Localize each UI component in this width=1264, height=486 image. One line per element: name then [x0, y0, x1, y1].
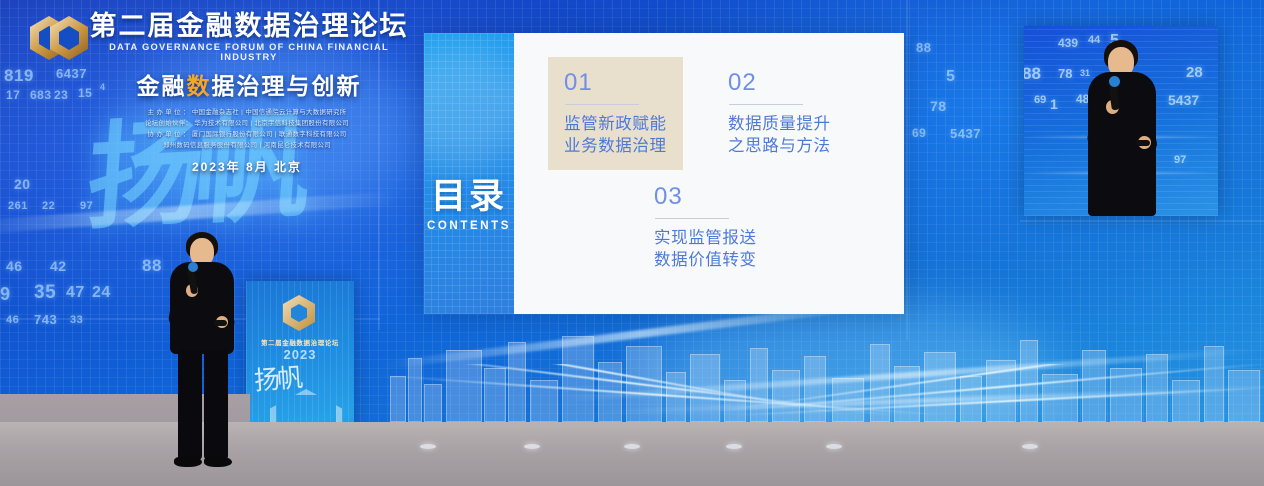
feed-number: 5437 — [1168, 92, 1199, 108]
event-date-location: 2023年 8月 北京 — [76, 158, 418, 175]
agenda-item-content: 02 数据质量提升 之思路与方法 — [728, 71, 831, 158]
feed-number: 88 — [1024, 64, 1041, 84]
agenda-number: 02 — [728, 71, 831, 95]
slogan-highlight: 数 — [187, 73, 212, 99]
backdrop-number: 88 — [916, 40, 931, 55]
road-lane — [380, 364, 846, 415]
speaker-leg-right — [204, 350, 228, 460]
microphone-head — [188, 262, 198, 272]
agenda-text-line1: 实现监管报送 — [654, 228, 757, 250]
toc-title-cn: 目录 — [424, 179, 514, 214]
backdrop-number: 743 — [34, 312, 57, 327]
floor-downlight — [624, 444, 640, 449]
backdrop-number: 22 — [42, 200, 55, 212]
road-lane — [730, 385, 1264, 416]
conference-stage-photo: 扬帆 819 6437 17 683 23 15 4 20 261 22 97 … — [0, 0, 1264, 486]
organizer-list: 主 办 单 位 ： 中国金融杂志社 | 中国信通院云计算与大数据研究所 论坛创始… — [76, 107, 418, 151]
presentation-clicker — [1136, 140, 1150, 146]
agenda-item-01[interactable]: 01 监管新政赋能 业务数据治理 — [564, 71, 667, 158]
podium-title: 第二届金融数据治理论坛 — [246, 337, 354, 347]
agenda-text-line1: 监管新政赋能 — [564, 114, 667, 136]
event-subtitle-en: DATA GOVERNANCE FORUM OF CHINA FINANCIAL… — [80, 42, 418, 62]
presentation-clicker — [214, 320, 227, 326]
agenda-divider — [655, 218, 729, 219]
feed-number: 28 — [1186, 64, 1203, 81]
backdrop-number: 35 — [34, 282, 56, 304]
slide-toc-panel: 目录 CONTENTS — [424, 33, 514, 314]
agenda-item-03[interactable]: 03 实现监管报送 数据价值转变 — [654, 185, 757, 272]
backdrop-number: 5437 — [950, 126, 981, 141]
agenda-item-content: 03 实现监管报送 数据价值转变 — [654, 185, 757, 272]
backdrop-number: 5 — [946, 68, 955, 86]
backdrop-number: 46 — [6, 314, 19, 326]
organizer-line: 论坛创始伙伴： 华为技术有限公司 | 北京宇信科技集团股份有限公司 — [76, 118, 418, 129]
feed-number: 1 — [1050, 96, 1058, 112]
event-slogan: 金融数据治理与创新 — [80, 67, 418, 101]
agenda-text-line1: 数据质量提升 — [728, 114, 831, 136]
podium-calligraphy: 扬帆 — [253, 357, 301, 397]
backdrop-number: 69 — [912, 126, 926, 140]
podium-logo-inner — [291, 304, 307, 322]
floor-downlight — [726, 444, 742, 449]
organizer-line: 协 办 单 位 ： 厦门国际银行股份有限公司 | 联通数字科技有限公司 — [76, 129, 418, 140]
backdrop-number: 46 — [6, 258, 23, 274]
microphone-head — [1109, 76, 1120, 87]
video-feed-speaker — [1076, 40, 1172, 216]
backdrop-number: 88 — [142, 256, 162, 276]
agenda-text-line2: 数据价值转变 — [654, 250, 757, 272]
backdrop-number: 78 — [930, 98, 947, 114]
backdrop-number: 42 — [50, 258, 67, 274]
feed-number: 69 — [1034, 94, 1046, 106]
agenda-item-content: 01 监管新政赋能 业务数据治理 — [564, 71, 667, 158]
floor-downlight — [826, 444, 842, 449]
speaker-shoe-right — [204, 456, 232, 467]
speaker-leg-left — [178, 350, 202, 460]
table-of-contents-heading: 目录 CONTENTS — [424, 179, 514, 232]
organizer-line: 主 办 单 位 ： 中国金融杂志社 | 中国信通院云计算与大数据研究所 — [76, 107, 418, 118]
feed-number: 97 — [1174, 154, 1186, 166]
floor-downlight — [1022, 444, 1038, 449]
backdrop-number: 24 — [92, 284, 111, 302]
agenda-text-line2: 之思路与方法 — [728, 136, 831, 158]
on-stage-speaker — [160, 232, 256, 470]
backdrop-number: 47 — [66, 284, 85, 302]
cityscape-graphic — [380, 322, 1264, 422]
feed-number: 78 — [1058, 66, 1072, 81]
projected-slide: 目录 CONTENTS 01 监管新政赋能 业务数据治理 02 数据质量提升 — [424, 33, 904, 314]
slogan-prefix: 金融 — [137, 73, 187, 99]
organizer-line: 郑州数码信息服务股份有限公司 | 河南昆仑技术有限公司 — [76, 140, 418, 151]
agenda-number: 03 — [654, 185, 757, 209]
floor-downlight — [420, 444, 436, 449]
floor-downlight — [524, 444, 540, 449]
light-road — [380, 364, 1264, 422]
live-camera-feed-panel: 439 44 5 88 78 31 28 69 1 48 5437 97 — [1024, 26, 1218, 216]
agenda-text-line2: 业务数据治理 — [564, 136, 667, 158]
backdrop-number: 9 — [0, 284, 11, 305]
hexagon-right-inner — [59, 26, 79, 50]
slide-panel-glow — [424, 47, 514, 167]
agenda-item-02[interactable]: 02 数据质量提升 之思路与方法 — [728, 71, 831, 158]
agenda-number: 01 — [564, 71, 667, 95]
backdrop-number: 97 — [80, 200, 93, 212]
slide-agenda-panel: 01 监管新政赋能 业务数据治理 02 数据质量提升 之思路与方法 03 — [514, 33, 904, 314]
backdrop-number: 261 — [8, 200, 28, 212]
toc-title-en: CONTENTS — [424, 220, 514, 232]
agenda-divider — [729, 104, 803, 105]
event-title: 第二届金融数据治理论坛 — [80, 12, 418, 40]
double-hexagon-logo-icon — [30, 12, 92, 66]
backdrop-number: 33 — [70, 314, 83, 326]
backdrop-number: 20 — [14, 176, 31, 192]
slogan-suffix: 据治理与创新 — [212, 73, 362, 99]
agenda-divider — [565, 104, 639, 105]
speaker-shoe-left — [174, 456, 202, 467]
event-key-visual: 第二届金融数据治理论坛 DATA GOVERNANCE FORUM OF CHI… — [18, 6, 418, 175]
